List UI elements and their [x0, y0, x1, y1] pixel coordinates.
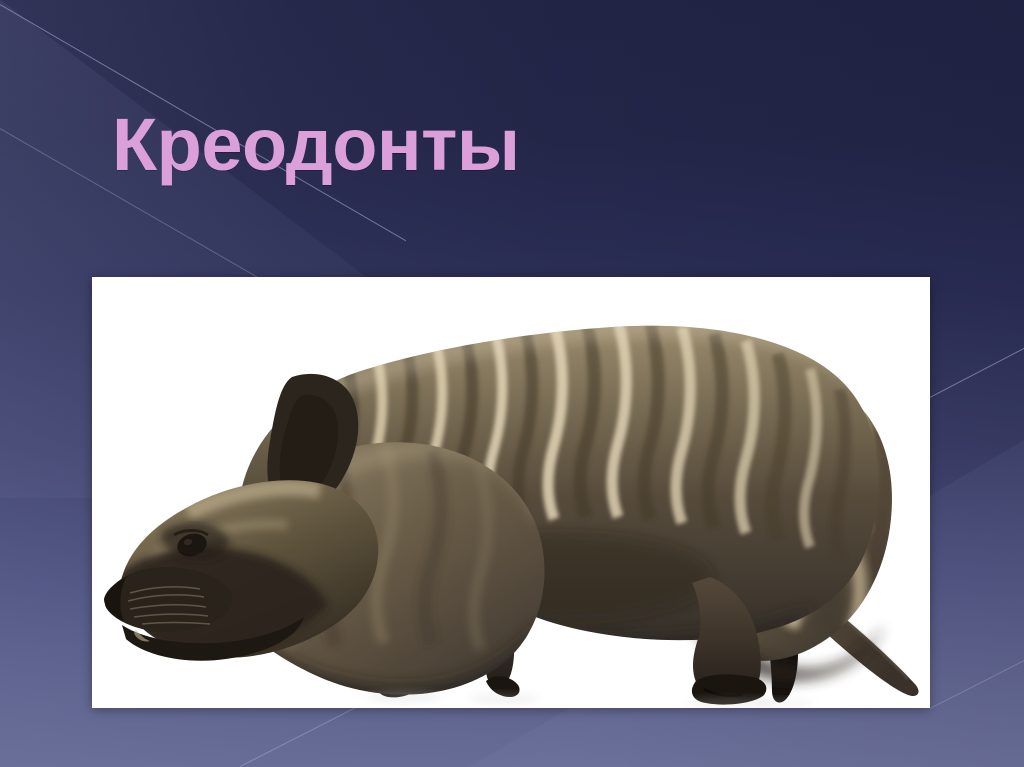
slide-title: Креодонты — [112, 106, 520, 184]
creodont-illustration — [92, 277, 930, 708]
slide: Креодонты — [0, 0, 1024, 767]
picture-panel — [92, 277, 930, 708]
